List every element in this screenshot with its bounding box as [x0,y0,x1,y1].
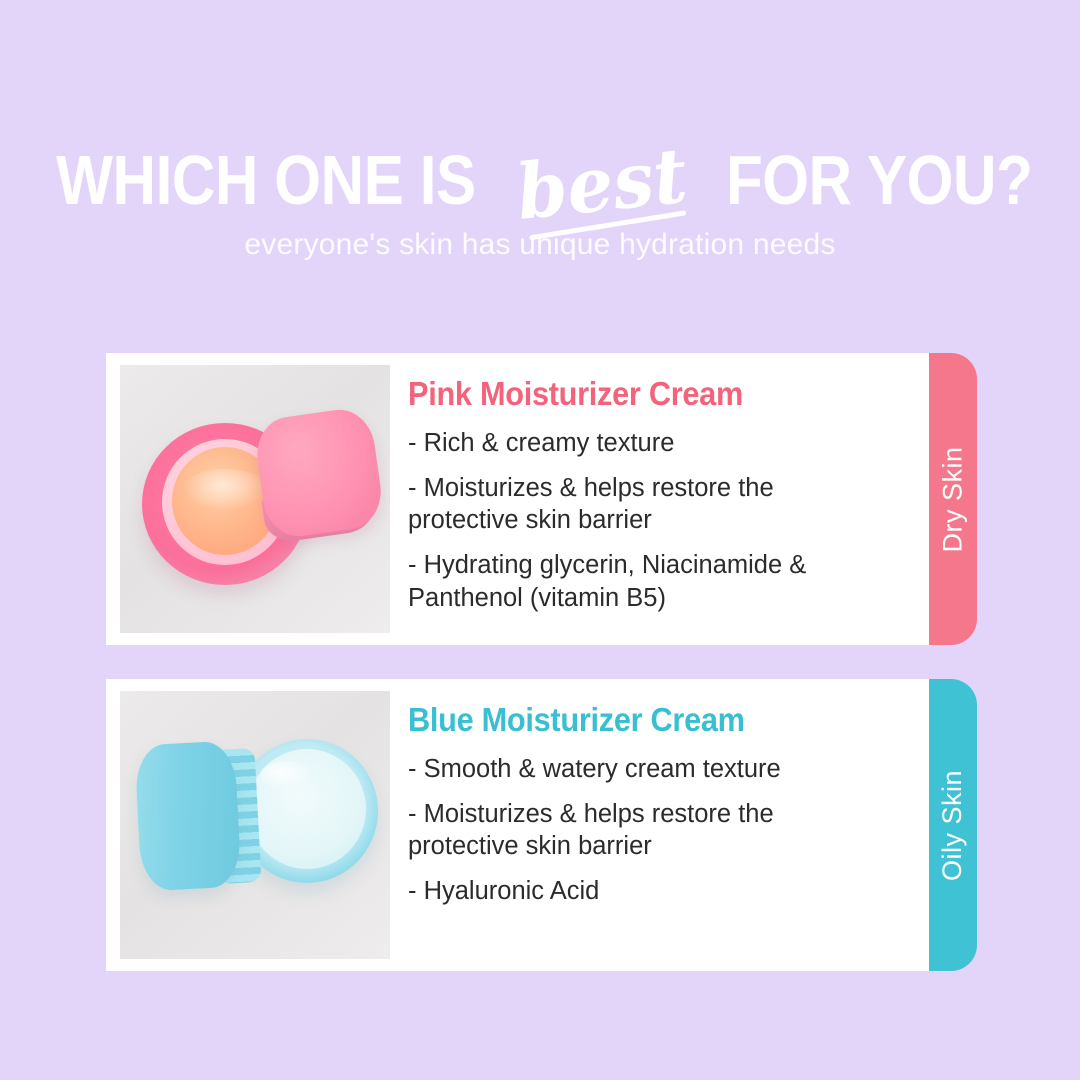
page-subtitle: everyone's skin has unique hydration nee… [0,228,1080,262]
blue-card-body: Blue Moisturizer Cream - Smooth & watery… [390,679,930,921]
pink-bullet-1: - Rich & creamy texture [408,427,878,459]
page-headline: WHICH ONE ISbestFOR YOU? [0,140,1080,216]
blue-bullet-1: - Smooth & watery cream texture [408,753,878,785]
headline-text-after: FOR YOU? [726,145,1032,215]
blue-card-title: Blue Moisturizer Cream [408,701,866,739]
skin-type-tab-dry[interactable]: Dry Skin [929,353,977,645]
pink-jar-lid [252,405,386,540]
product-card-pink[interactable]: Pink Moisturizer Cream - Rich & creamy t… [106,353,930,645]
blue-bullet-3: - Hyaluronic Acid [408,875,878,907]
header-section: WHICH ONE ISbestFOR YOU? everyone's skin… [0,0,1080,300]
pink-card-body: Pink Moisturizer Cream - Rich & creamy t… [390,353,930,627]
headline-text-before: WHICH ONE IS [56,145,476,215]
blue-jar-lid [134,740,242,891]
blue-bullet-2: - Moisturizes & helps restore the protec… [408,798,878,862]
pink-jar-cream-highlight [182,469,268,511]
pink-card-title: Pink Moisturizer Cream [408,375,866,413]
pink-cream-jar-photo [120,365,390,633]
pink-bullet-2: - Moisturizes & helps restore the protec… [408,472,878,536]
headline-script-word: best [507,137,696,232]
skin-type-tab-dry-label: Dry Skin [938,446,969,552]
skin-type-tab-oily[interactable]: Oily Skin [929,679,977,971]
pink-bullet-3: - Hydrating glycerin, Niacinamide & Pant… [408,549,878,613]
blue-jar-cream-highlight [260,761,312,789]
skin-type-tab-oily-label: Oily Skin [938,769,969,880]
product-card-blue[interactable]: Blue Moisturizer Cream - Smooth & watery… [106,679,930,971]
blue-cream-jar-photo [120,691,390,959]
